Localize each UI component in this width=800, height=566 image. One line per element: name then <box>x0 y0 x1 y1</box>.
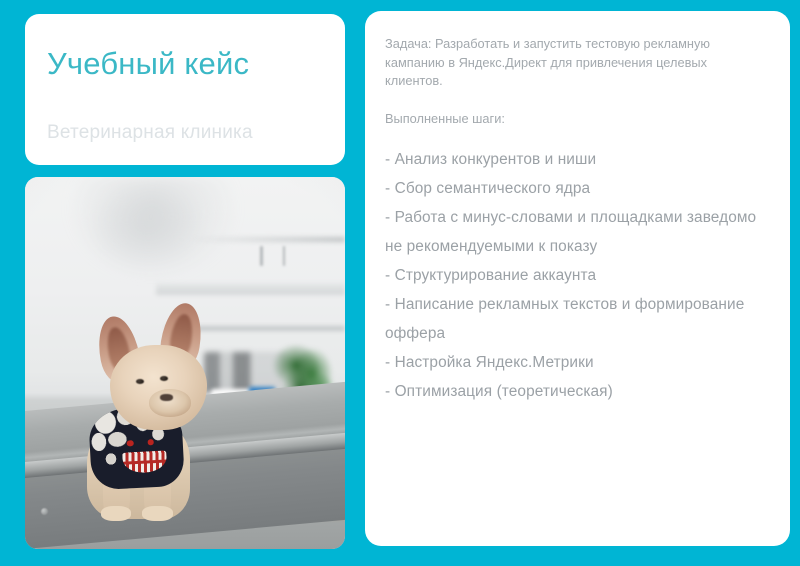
dog-head <box>110 345 207 430</box>
dog-paw <box>101 506 131 522</box>
dog-figure <box>79 296 258 519</box>
photo-card <box>25 177 345 549</box>
list-item: - Сбор семантического ядра <box>385 174 768 203</box>
page-title: Учебный кейс <box>47 46 323 82</box>
cabinet-handle-icon <box>283 246 285 266</box>
dog-eye <box>160 376 168 381</box>
dog-photo-icon <box>25 177 345 549</box>
cabinet-handle-icon <box>260 246 262 266</box>
list-item: - Структурирование аккаунта <box>385 261 768 290</box>
dog-nose <box>160 394 173 401</box>
slide-root: Учебный кейс Ветеринарная клиника <box>0 0 800 566</box>
shark-teeth <box>123 462 168 473</box>
page-subtitle: Ветеринарная клиника <box>47 121 323 145</box>
cabinet-edge <box>191 237 345 243</box>
shark-eye <box>147 439 154 445</box>
dog-paw <box>142 506 172 522</box>
counter-surface <box>156 283 345 295</box>
list-item: - Написание рекламных текстов и формиров… <box>385 290 768 348</box>
shark-mouth-icon <box>122 450 168 473</box>
shark-teeth <box>122 450 167 461</box>
task-description: Задача: Разработать и запустить тестовую… <box>385 35 768 91</box>
steps-list: - Анализ конкурентов и ниши - Сбор семан… <box>385 145 768 406</box>
list-item: - Анализ конкурентов и ниши <box>385 145 768 174</box>
info-card: Задача: Разработать и запустить тестовую… <box>365 11 790 546</box>
title-card: Учебный кейс Ветеринарная клиника <box>25 14 345 165</box>
steps-label: Выполненные шаги: <box>385 110 768 129</box>
list-item: - Настройка Яндекс.Метрики <box>385 348 768 377</box>
list-item: - Работа с минус-словами и площадками за… <box>385 203 768 261</box>
shark-eye <box>127 440 134 446</box>
dog-eye <box>136 379 144 384</box>
list-item: - Оптимизация (теоретическая) <box>385 377 768 406</box>
